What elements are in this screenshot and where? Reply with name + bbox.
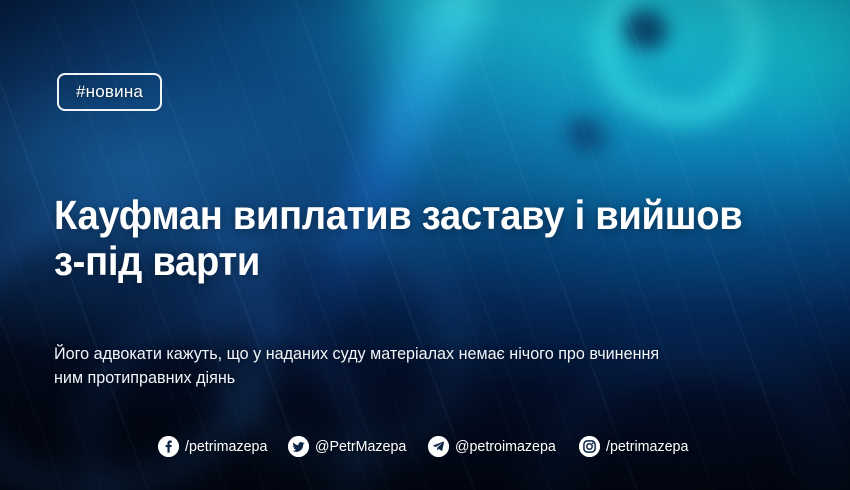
social-link-instagram[interactable]: /petrimazepa	[579, 436, 693, 457]
social-handle-telegram: @petroimazepa	[455, 437, 556, 457]
news-card: #новина Кауфман виплатив заставу і вийшо…	[0, 0, 850, 490]
page-subtitle: Його адвокати кажуть, що у наданих суду …	[54, 342, 686, 390]
twitter-icon	[288, 436, 309, 457]
social-handle-facebook: /petrimazepa	[185, 437, 267, 457]
social-link-telegram[interactable]: @petroimazepa	[428, 436, 561, 457]
page-title: Кауфман виплатив заставу і вийшов з-під …	[54, 192, 757, 284]
facebook-icon	[158, 436, 179, 457]
category-badge-label: #новина	[76, 82, 143, 102]
instagram-icon	[579, 436, 600, 457]
social-handle-instagram: /petrimazepa	[606, 437, 688, 457]
social-link-facebook[interactable]: /petrimazepa	[158, 436, 272, 457]
category-badge[interactable]: #новина	[57, 73, 162, 111]
social-handle-twitter: @PetrMazepa	[315, 437, 406, 457]
card-content: #новина Кауфман виплатив заставу і вийшо…	[0, 0, 850, 490]
telegram-icon	[428, 436, 449, 457]
social-links-bar: /petrimazepa @PetrMazepa	[0, 436, 850, 457]
social-link-twitter[interactable]: @PetrMazepa	[288, 436, 411, 457]
